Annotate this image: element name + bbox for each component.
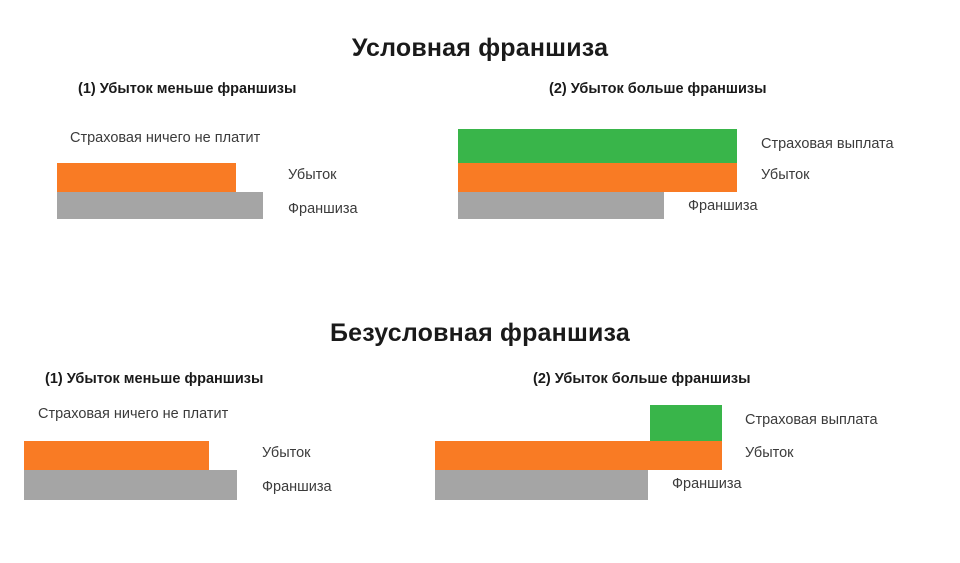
bar-label-deductible-unconditional-case-2: Франшиза [672, 476, 742, 492]
bar-deductible-unconditional-case-2 [435, 470, 648, 500]
bar-loss-conditional-case-2 [458, 163, 737, 192]
bar-label-loss-conditional-case-2: Убыток [761, 167, 810, 183]
bar-deductible-conditional-case-2 [458, 192, 664, 219]
panel-title-unconditional-case-1: (1) Убыток меньше франшизы [45, 371, 263, 387]
bar-label-deductible-conditional-case-1: Франшиза [288, 201, 358, 217]
bar-label-deductible-unconditional-case-1: Франшиза [262, 479, 332, 495]
bar-label-loss-unconditional-case-2: Убыток [745, 445, 794, 461]
note-no-payout-unconditional: Страховая ничего не платит [38, 406, 228, 422]
bar-loss-unconditional-case-1 [24, 441, 209, 470]
bar-label-payout-conditional-case-2: Страховая выплата [761, 136, 894, 152]
bar-loss-unconditional-case-2 [435, 441, 722, 470]
bar-payout-unconditional-case-2 [650, 405, 722, 441]
bar-loss-conditional-case-1 [57, 163, 236, 192]
panel-title-conditional-case-2: (2) Убыток больше франшизы [549, 81, 767, 97]
bar-label-loss-conditional-case-1: Убыток [288, 167, 337, 183]
bar-label-deductible-conditional-case-2: Франшиза [688, 198, 758, 214]
bar-label-payout-unconditional-case-2: Страховая выплата [745, 412, 878, 428]
section-title-unconditional: Безусловная франшиза [0, 319, 960, 348]
section-title-conditional: Условная франшиза [0, 34, 960, 63]
bar-label-loss-unconditional-case-1: Убыток [262, 445, 311, 461]
panel-title-unconditional-case-2: (2) Убыток больше франшизы [533, 371, 751, 387]
bar-deductible-conditional-case-1 [57, 192, 263, 219]
diagram-canvas: Условная франшиза (1) Убыток меньше фран… [0, 0, 960, 563]
panel-title-conditional-case-1: (1) Убыток меньше франшизы [78, 81, 296, 97]
bar-deductible-unconditional-case-1 [24, 470, 237, 500]
note-no-payout-conditional: Страховая ничего не платит [70, 130, 260, 146]
bar-payout-conditional-case-2 [458, 129, 737, 163]
